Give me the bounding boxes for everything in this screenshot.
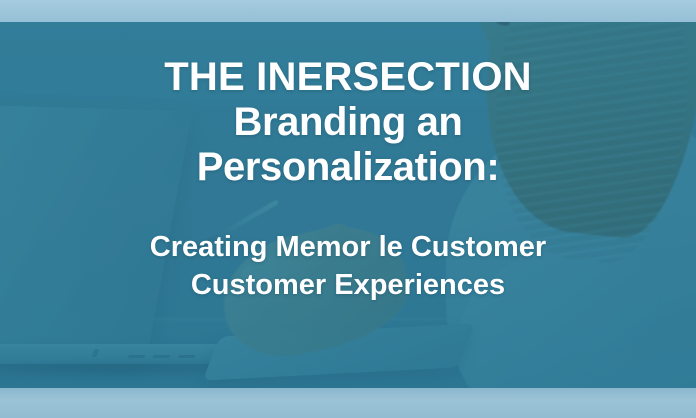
promo-banner: THE INERSECTION Branding an Personalizat… [0,0,696,418]
headline-line-3: Personalization: [164,147,531,188]
headline-line-1: THE INERSECTION [164,57,531,98]
banner-content: THE INERSECTION Branding an Personalizat… [0,0,696,418]
headline: THE INERSECTION Branding an Personalizat… [164,57,531,187]
headline-line-2: Branding an [164,102,531,143]
subheadline-line-2: Customer Experiences [150,268,546,302]
subheadline-line-1: Creating Memor le Customer [150,230,546,264]
subheadline: Creating Memor le Customer Customer Expe… [150,230,546,301]
